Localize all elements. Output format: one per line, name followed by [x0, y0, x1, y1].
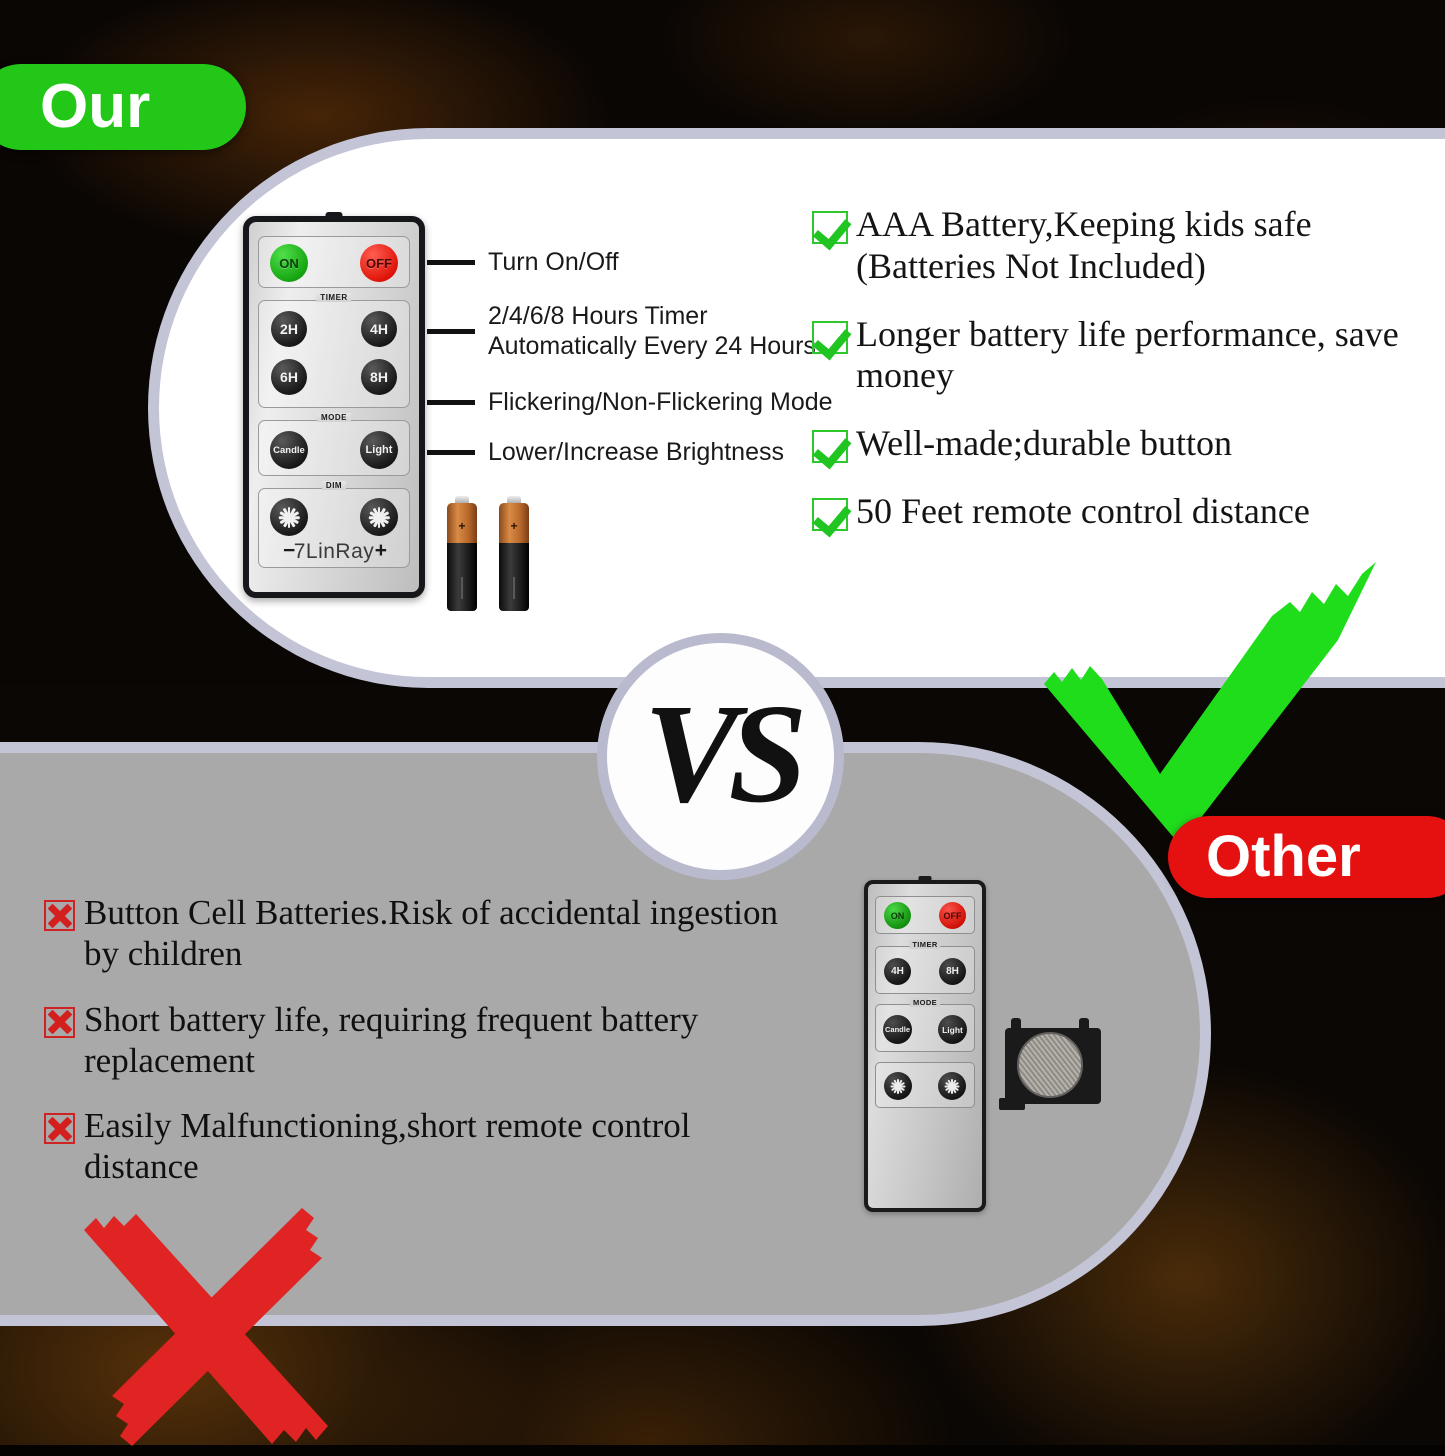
infographic-canvas: Our ON OFF TIMER 2H 4H 6H 8H: [0, 0, 1445, 1445]
drawback-text: Short battery life, requiring frequent b…: [84, 999, 804, 1082]
on-button-label: ON: [279, 256, 299, 271]
other-on-button[interactable]: ON: [884, 902, 911, 929]
list-item: Button Cell Batteries.Risk of accidental…: [44, 892, 804, 975]
timer-6h-button[interactable]: 6H: [271, 359, 307, 395]
aaa-battery-pair: + +: [447, 503, 529, 611]
other-remote-control: ON OFF TIMER 4H 8H MODE Candle Light: [864, 880, 986, 1212]
mode-group-label: MODE: [317, 413, 351, 422]
ir-emitter-icon: [919, 876, 932, 882]
drawback-text: Button Cell Batteries.Risk of accidental…: [84, 892, 804, 975]
versus-label: VS: [644, 671, 798, 835]
battery-plus-label: +: [510, 519, 517, 533]
mode-candle-label: Candle: [273, 445, 305, 456]
mode-button-group: MODE Candle Light: [258, 420, 410, 476]
benefit-text: 50 Feet remote control distance: [856, 491, 1310, 533]
other-off-button[interactable]: OFF: [939, 902, 966, 929]
brightness-up-icon: [368, 506, 390, 528]
list-item: Easily Malfunctioning,short remote contr…: [44, 1105, 804, 1188]
callout-mode: Flickering/Non-Flickering Mode: [427, 388, 833, 418]
battery-plus-label: +: [458, 519, 465, 533]
red-cross-icon: [44, 900, 75, 931]
mode-light-label: Light: [366, 444, 393, 456]
green-check-stroke-icon: [1032, 556, 1390, 840]
green-check-icon: [812, 498, 848, 531]
timer-2h-label: 2H: [280, 321, 298, 337]
callout-power: Turn On/Off: [427, 248, 619, 278]
callout-line: [427, 400, 475, 405]
other-timer-group: TIMER 4H 8H: [875, 946, 975, 994]
other-mode-candle-button[interactable]: Candle: [883, 1015, 912, 1044]
callout-line: [427, 329, 475, 334]
brightness-down-button[interactable]: [270, 498, 308, 536]
other-timer-4h-button[interactable]: 4H: [884, 958, 911, 985]
our-badge: Our: [0, 64, 246, 150]
green-check-icon: [812, 430, 848, 463]
power-button-group: ON OFF: [258, 236, 410, 288]
our-remote-control: ON OFF TIMER 2H 4H 6H 8H MODE Cand: [243, 216, 425, 598]
red-x-stroke-icon: [66, 1194, 366, 1456]
other-timer-8h-button[interactable]: 8H: [939, 958, 966, 985]
mode-candle-button[interactable]: Candle: [270, 431, 308, 469]
list-item: 50 Feet remote control distance: [812, 491, 1430, 533]
other-timer-8h-label: 8H: [946, 966, 959, 977]
timer-4h-label: 4H: [370, 321, 388, 337]
on-button[interactable]: ON: [270, 244, 308, 282]
other-brightness-down-button[interactable]: [884, 1072, 912, 1100]
callout-power-label: Turn On/Off: [488, 248, 619, 278]
green-check-icon: [812, 211, 848, 244]
aaa-battery-icon: +: [499, 503, 529, 611]
coin-cell-battery-icon: [1005, 1018, 1101, 1114]
other-brightness-up-button[interactable]: [938, 1072, 966, 1100]
list-item: AAA Battery,Keeping kids safe (Batteries…: [812, 204, 1430, 288]
aaa-battery-icon: +: [447, 503, 477, 611]
list-item: Short battery life, requiring frequent b…: [44, 999, 804, 1082]
callout-timer: 2/4/6/8 Hours Timer Automatically Every …: [427, 302, 816, 361]
red-cross-icon: [44, 1113, 75, 1144]
green-check-icon: [812, 321, 848, 354]
callout-dim: Lower/Increase Brightness: [427, 438, 784, 468]
other-timer-4h-label: 4H: [891, 966, 904, 977]
drawback-text: Easily Malfunctioning,short remote contr…: [84, 1105, 804, 1188]
other-badge: Other: [1168, 816, 1445, 898]
other-off-label: OFF: [944, 911, 962, 921]
off-button[interactable]: OFF: [360, 244, 398, 282]
other-on-label: ON: [891, 911, 905, 921]
timer-8h-button[interactable]: 8H: [361, 359, 397, 395]
red-cross-icon: [44, 1007, 75, 1038]
timer-group-label: TIMER: [316, 293, 351, 302]
list-item: Well-made;durable button: [812, 423, 1430, 465]
callout-line: [427, 450, 475, 455]
timer-button-group: TIMER 2H 4H 6H 8H: [258, 300, 410, 408]
our-badge-label: Our: [40, 76, 150, 138]
callout-mode-label: Flickering/Non-Flickering Mode: [488, 388, 833, 418]
benefit-text: Longer battery life performance, save mo…: [856, 314, 1430, 398]
other-mode-light-label: Light: [942, 1025, 963, 1035]
timer-8h-label: 8H: [370, 369, 388, 385]
timer-2h-button[interactable]: 2H: [271, 311, 307, 347]
callout-dim-label: Lower/Increase Brightness: [488, 438, 784, 468]
other-timer-label: TIMER: [909, 940, 940, 949]
brightness-down-icon: [278, 506, 300, 528]
off-button-label: OFF: [366, 256, 392, 271]
drawbacks-list: Button Cell Batteries.Risk of accidental…: [44, 892, 804, 1212]
timer-4h-button[interactable]: 4H: [361, 311, 397, 347]
other-badge-label: Other: [1206, 828, 1361, 886]
brightness-up-button[interactable]: [360, 498, 398, 536]
benefits-list: AAA Battery,Keeping kids safe (Batteries…: [812, 204, 1430, 559]
list-item: Longer battery life performance, save mo…: [812, 314, 1430, 398]
other-mode-candle-label: Candle: [885, 1025, 910, 1034]
other-power-group: ON OFF: [875, 896, 975, 934]
other-mode-light-button[interactable]: Light: [938, 1015, 967, 1044]
remote-brand-label: 7LinRay: [249, 540, 419, 564]
benefit-text: AAA Battery,Keeping kids safe (Batteries…: [856, 204, 1430, 288]
timer-6h-label: 6H: [280, 369, 298, 385]
versus-badge: VS: [597, 633, 844, 880]
callout-line: [427, 260, 475, 265]
ir-emitter-icon: [326, 212, 343, 219]
mode-light-button[interactable]: Light: [360, 431, 398, 469]
other-mode-group: MODE Candle Light: [875, 1004, 975, 1052]
benefit-text: Well-made;durable button: [856, 423, 1232, 465]
brightness-up-icon: [945, 1079, 960, 1094]
callout-timer-label: 2/4/6/8 Hours Timer Automatically Every …: [488, 302, 816, 361]
dim-group-label: DIM: [322, 481, 346, 490]
brightness-down-icon: [891, 1079, 906, 1094]
other-dim-group: [875, 1062, 975, 1108]
other-mode-label: MODE: [910, 998, 940, 1007]
